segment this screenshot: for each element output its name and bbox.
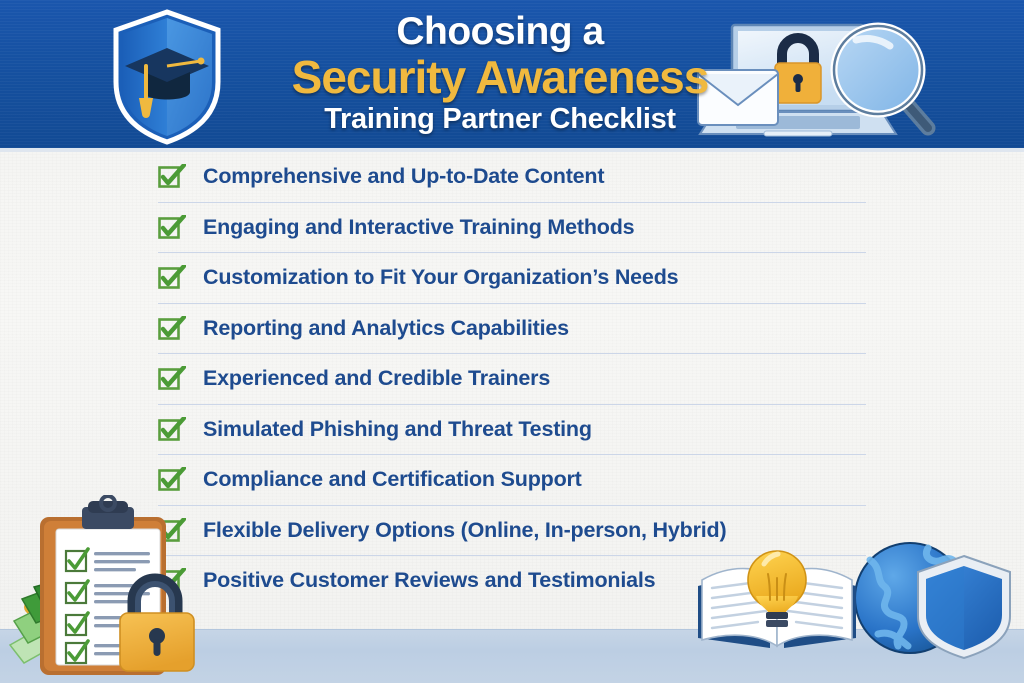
- clipboard-illustration: [8, 495, 218, 683]
- checklist-row-3[interactable]: Customization to Fit Your Organization’s…: [0, 253, 1024, 304]
- title-line-1: Choosing a: [250, 12, 750, 52]
- checklist-row-2[interactable]: Engaging and Interactive Training Method…: [0, 203, 1024, 254]
- checklist-row-6[interactable]: Simulated Phishing and Threat Testing: [0, 405, 1024, 456]
- checked-checkbox-icon[interactable]: [158, 417, 186, 443]
- title-line-2: Security Awareness: [250, 53, 750, 101]
- title-line-3: Training Partner Checklist: [250, 104, 750, 136]
- checklist-row-4[interactable]: Reporting and Analytics Capabilities: [0, 304, 1024, 355]
- header-banner: Choosing a Security Awareness Training P…: [0, 0, 1024, 152]
- shield-icon: [918, 556, 1010, 658]
- checklist-row-1[interactable]: Comprehensive and Up-to-Date Content: [0, 152, 1024, 203]
- checklist-row-5[interactable]: Experienced and Credible Trainers: [0, 354, 1024, 405]
- infographic-canvas: Choosing a Security Awareness Training P…: [0, 0, 1024, 683]
- checklist-item-label: Simulated Phishing and Threat Testing: [203, 417, 592, 442]
- checked-checkbox-icon[interactable]: [158, 316, 186, 342]
- checklist-item-label: Flexible Delivery Options (Online, In-pe…: [203, 518, 726, 543]
- checklist-item-label: Comprehensive and Up-to-Date Content: [203, 164, 604, 189]
- checklist-item-label: Compliance and Certification Support: [203, 467, 582, 492]
- checklist-item-label: Positive Customer Reviews and Testimonia…: [203, 568, 655, 593]
- checked-checkbox-icon[interactable]: [158, 467, 186, 493]
- checklist-item-label: Engaging and Interactive Training Method…: [203, 215, 634, 240]
- checklist-item-label: Experienced and Credible Trainers: [203, 366, 550, 391]
- header-title-group: Choosing a Security Awareness Training P…: [250, 12, 750, 136]
- checklist-item-label: Customization to Fit Your Organization’s…: [203, 265, 678, 290]
- checked-checkbox-icon[interactable]: [158, 164, 186, 190]
- checked-checkbox-icon[interactable]: [158, 366, 186, 392]
- checklist-item-label: Reporting and Analytics Capabilities: [203, 316, 569, 341]
- graduation-cap-shield-icon: [108, 6, 226, 152]
- checked-checkbox-icon[interactable]: [158, 265, 186, 291]
- knowledge-illustration: [692, 534, 1017, 669]
- checked-checkbox-icon[interactable]: [158, 215, 186, 241]
